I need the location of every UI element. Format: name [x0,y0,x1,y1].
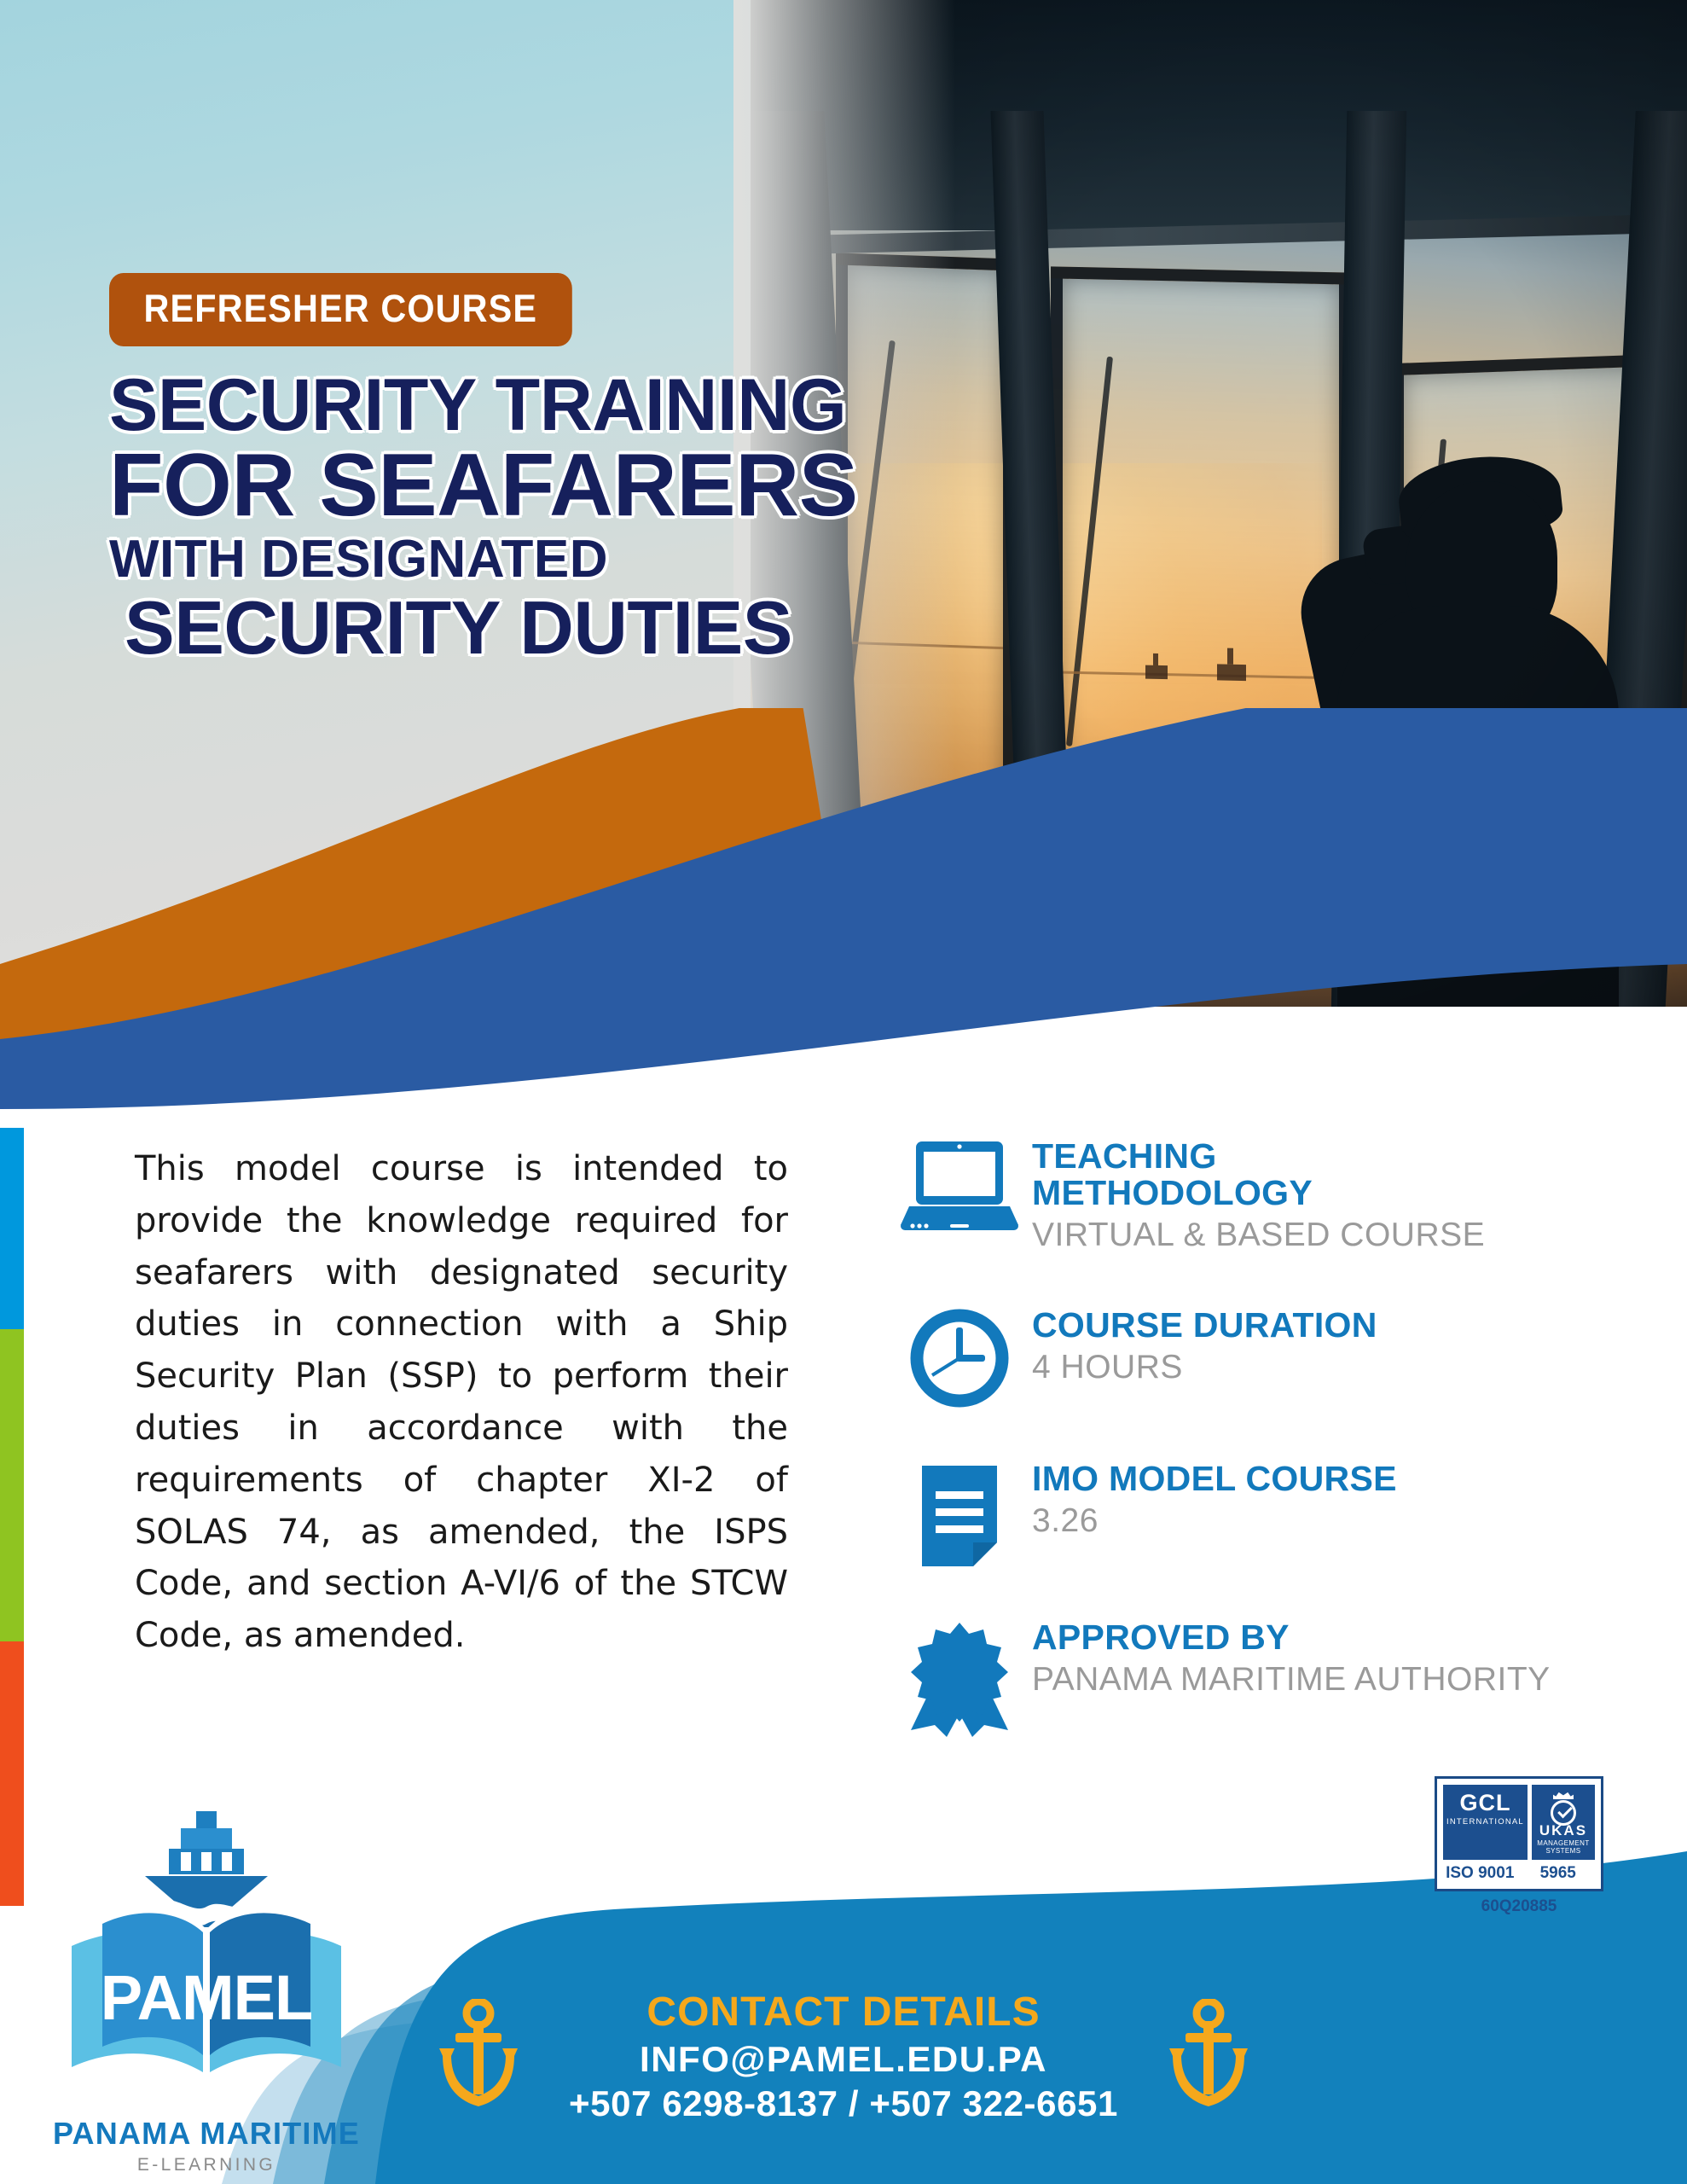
logo-name: PANAMA MARITIME [53,2116,360,2152]
crown-icon [1553,1792,1574,1799]
course-info-list: TEACHING METHODOLOGY VIRTUAL & BASED COU… [887,1135,1655,1786]
info-title-duration: COURSE DURATION [1032,1307,1377,1344]
pamel-logo: PAMEL PANAMA MARITIME E-LEARNING [53,1799,360,2175]
clock-icon [887,1304,1032,1408]
check-icon [1557,1804,1573,1819]
contact-email[interactable]: INFO@PAMEL.EDU.PA [569,2039,1118,2080]
side-bar-blue [0,1128,24,1329]
ukas-crown-tick-icon [1549,1792,1578,1821]
ukas-cell: UKAS MANAGEMENT SYSTEMS [1532,1785,1595,1860]
title-line-4: SECURITY DUTIES [125,590,858,666]
poster-root: REFRESHER COURSE SECURITY TRAINING FOR S… [0,0,1687,2184]
contact-text-block: CONTACT DETAILS INFO@PAMEL.EDU.PA +507 6… [569,1989,1118,2124]
anchor-icon-right [1164,1999,1253,2114]
laptop-icon [887,1135,1032,1232]
info-title-teaching: TEACHING METHODOLOGY [1032,1138,1485,1212]
ukas-sub-line2: SYSTEMS [1535,1847,1591,1855]
side-bar-green [0,1329,24,1641]
title-block: REFRESHER COURSE SECURITY TRAINING FOR S… [109,273,858,666]
certificate-code: 60Q20885 [1435,1897,1603,1916]
info-value-duration: 4 HOURS [1032,1348,1377,1386]
gcl-logo-text: GCL [1446,1792,1524,1815]
svg-text:PAMEL: PAMEL [101,1962,313,2033]
info-title-line1: TEACHING [1032,1138,1485,1175]
title-line-2: FOR SEAFARERS [109,440,858,531]
contact-phone-numbers[interactable]: +507 6298-8137 / +507 322-6651 [569,2083,1118,2124]
info-item-approved-by: APPROVED BY PANAMA MARITIME AUTHORITY [887,1616,1655,1737]
logo-subtitle: E-LEARNING [53,2155,360,2175]
title-line-3: WITH DESIGNATED [109,532,858,586]
cert-box: GCL INTERNATIONAL UKAS MANAGEMENT SYSTEM… [1435,1776,1603,1891]
anchor-icon-left [434,1999,523,2114]
info-value-imo: 3.26 [1032,1501,1397,1540]
mid-wave-decoration [0,708,1687,1109]
info-item-teaching-methodology: TEACHING METHODOLOGY VIRTUAL & BASED COU… [887,1135,1655,1254]
cert-logos-row: GCL INTERNATIONAL UKAS MANAGEMENT SYSTEM… [1443,1785,1595,1860]
gcl-international-text: INTERNATIONAL [1446,1817,1524,1827]
ukas-number: 5965 [1522,1864,1596,1883]
info-title-imo: IMO MODEL COURSE [1032,1461,1397,1497]
side-bar-orange [0,1641,24,1906]
info-text-imo-model-course: IMO MODEL COURSE 3.26 [1032,1457,1397,1540]
info-item-imo-model-course: IMO MODEL COURSE 3.26 [887,1457,1655,1566]
info-text-approved-by: APPROVED BY PANAMA MARITIME AUTHORITY [1032,1616,1551,1699]
refresher-course-badge: REFRESHER COURSE [109,273,572,346]
pamel-logo-mark: PAMEL [53,1799,360,2106]
document-icon [887,1457,1032,1566]
info-text-course-duration: COURSE DURATION 4 HOURS [1032,1304,1377,1386]
info-title-approved: APPROVED BY [1032,1619,1551,1656]
ukas-sub-line1: MANAGEMENT [1535,1839,1591,1847]
certification-badge: GCL INTERNATIONAL UKAS MANAGEMENT SYSTEM… [1435,1776,1603,1916]
cert-footer-row: ISO 9001 5965 [1443,1864,1595,1883]
tick-circle-icon [1551,1800,1576,1826]
iso-label: ISO 9001 [1443,1864,1517,1883]
course-description: This model course is intended to provide… [135,1143,788,1662]
info-text-teaching-methodology: TEACHING METHODOLOGY VIRTUAL & BASED COU… [1032,1135,1485,1254]
contact-details-title: CONTACT DETAILS [569,1989,1118,2036]
info-title-line2: METHODOLOGY [1032,1175,1485,1211]
title-line-1: SECURITY TRAINING [109,369,858,444]
footer-inner: CONTACT DETAILS INFO@PAMEL.EDU.PA +507 6… [434,1989,1253,2124]
info-value-teaching: VIRTUAL & BASED COURSE [1032,1216,1485,1254]
side-color-bars [0,1128,24,1906]
info-value-approved: PANAMA MARITIME AUTHORITY [1032,1660,1551,1699]
gcl-cell: GCL INTERNATIONAL [1443,1785,1528,1860]
rosette-icon [887,1616,1032,1737]
info-item-course-duration: COURSE DURATION 4 HOURS [887,1304,1655,1408]
